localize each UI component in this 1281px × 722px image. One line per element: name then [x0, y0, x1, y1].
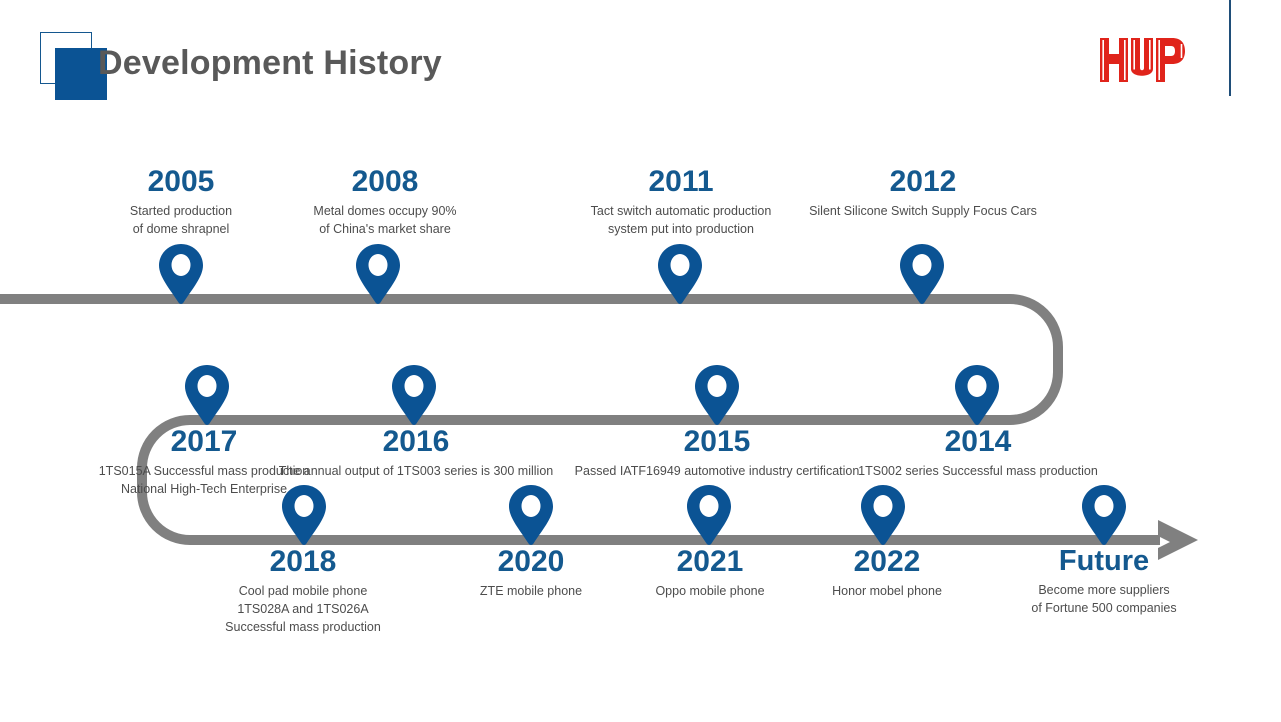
map-pin-icon — [507, 484, 555, 546]
map-pin-icon — [656, 243, 704, 305]
pin-2017[interactable] — [183, 364, 231, 426]
pin-2005[interactable] — [157, 243, 205, 305]
pin-2020[interactable] — [507, 484, 555, 546]
milestone-description-line: Silent Silicone Switch Supply Focus Cars — [623, 203, 1223, 221]
map-pin-icon — [157, 243, 205, 305]
milestone-description-line: system put into production — [381, 221, 981, 239]
map-pin-icon — [183, 364, 231, 426]
pin-2008[interactable] — [354, 243, 402, 305]
pin-2022[interactable] — [859, 484, 907, 546]
milestone-description: Silent Silicone Switch Supply Focus Cars — [623, 203, 1223, 221]
map-pin-icon — [685, 484, 733, 546]
pin-2015[interactable] — [693, 364, 741, 426]
slide-canvas: Development History — [0, 0, 1281, 722]
milestone-year: 2014 — [678, 426, 1278, 458]
header-accent-line — [1229, 0, 1231, 96]
milestone-2014: 20141TS002 series Successful mass produc… — [678, 426, 1278, 481]
milestone-year: Future — [804, 546, 1281, 577]
page-title: Development History — [98, 44, 442, 83]
milestone-future: FutureBecome more suppliersof Fortune 50… — [804, 546, 1281, 618]
map-pin-icon — [898, 243, 946, 305]
pin-2014[interactable] — [953, 364, 1001, 426]
map-pin-icon — [693, 364, 741, 426]
pin-2011[interactable] — [656, 243, 704, 305]
map-pin-icon — [859, 484, 907, 546]
milestone-description-line: 1TS028A and 1TS026A — [3, 601, 603, 619]
timeline-uturn-right — [190, 299, 1058, 420]
map-pin-icon — [354, 243, 402, 305]
milestone-description-line: Become more suppliers — [804, 582, 1281, 600]
milestone-description-line: of Fortune 500 companies — [804, 600, 1281, 618]
milestone-description-line: Successful mass production — [3, 619, 603, 637]
milestone-2012: 2012Silent Silicone Switch Supply Focus … — [623, 166, 1223, 221]
map-pin-icon — [1080, 484, 1128, 546]
milestone-description: Become more suppliersof Fortune 500 comp… — [804, 582, 1281, 618]
milestone-year: 2012 — [623, 166, 1223, 198]
hnp-logo-icon — [1100, 38, 1188, 82]
milestone-description-line: 1TS002 series Successful mass production — [678, 463, 1278, 481]
pin-future[interactable] — [1080, 484, 1128, 546]
pin-2016[interactable] — [390, 364, 438, 426]
pin-2021[interactable] — [685, 484, 733, 546]
map-pin-icon — [390, 364, 438, 426]
map-pin-icon — [953, 364, 1001, 426]
milestone-description-line: National High-Tech Enterprise — [0, 481, 504, 499]
pin-2012[interactable] — [898, 243, 946, 305]
milestone-description: 1TS002 series Successful mass production — [678, 463, 1278, 481]
hnp-logo — [1100, 38, 1188, 82]
